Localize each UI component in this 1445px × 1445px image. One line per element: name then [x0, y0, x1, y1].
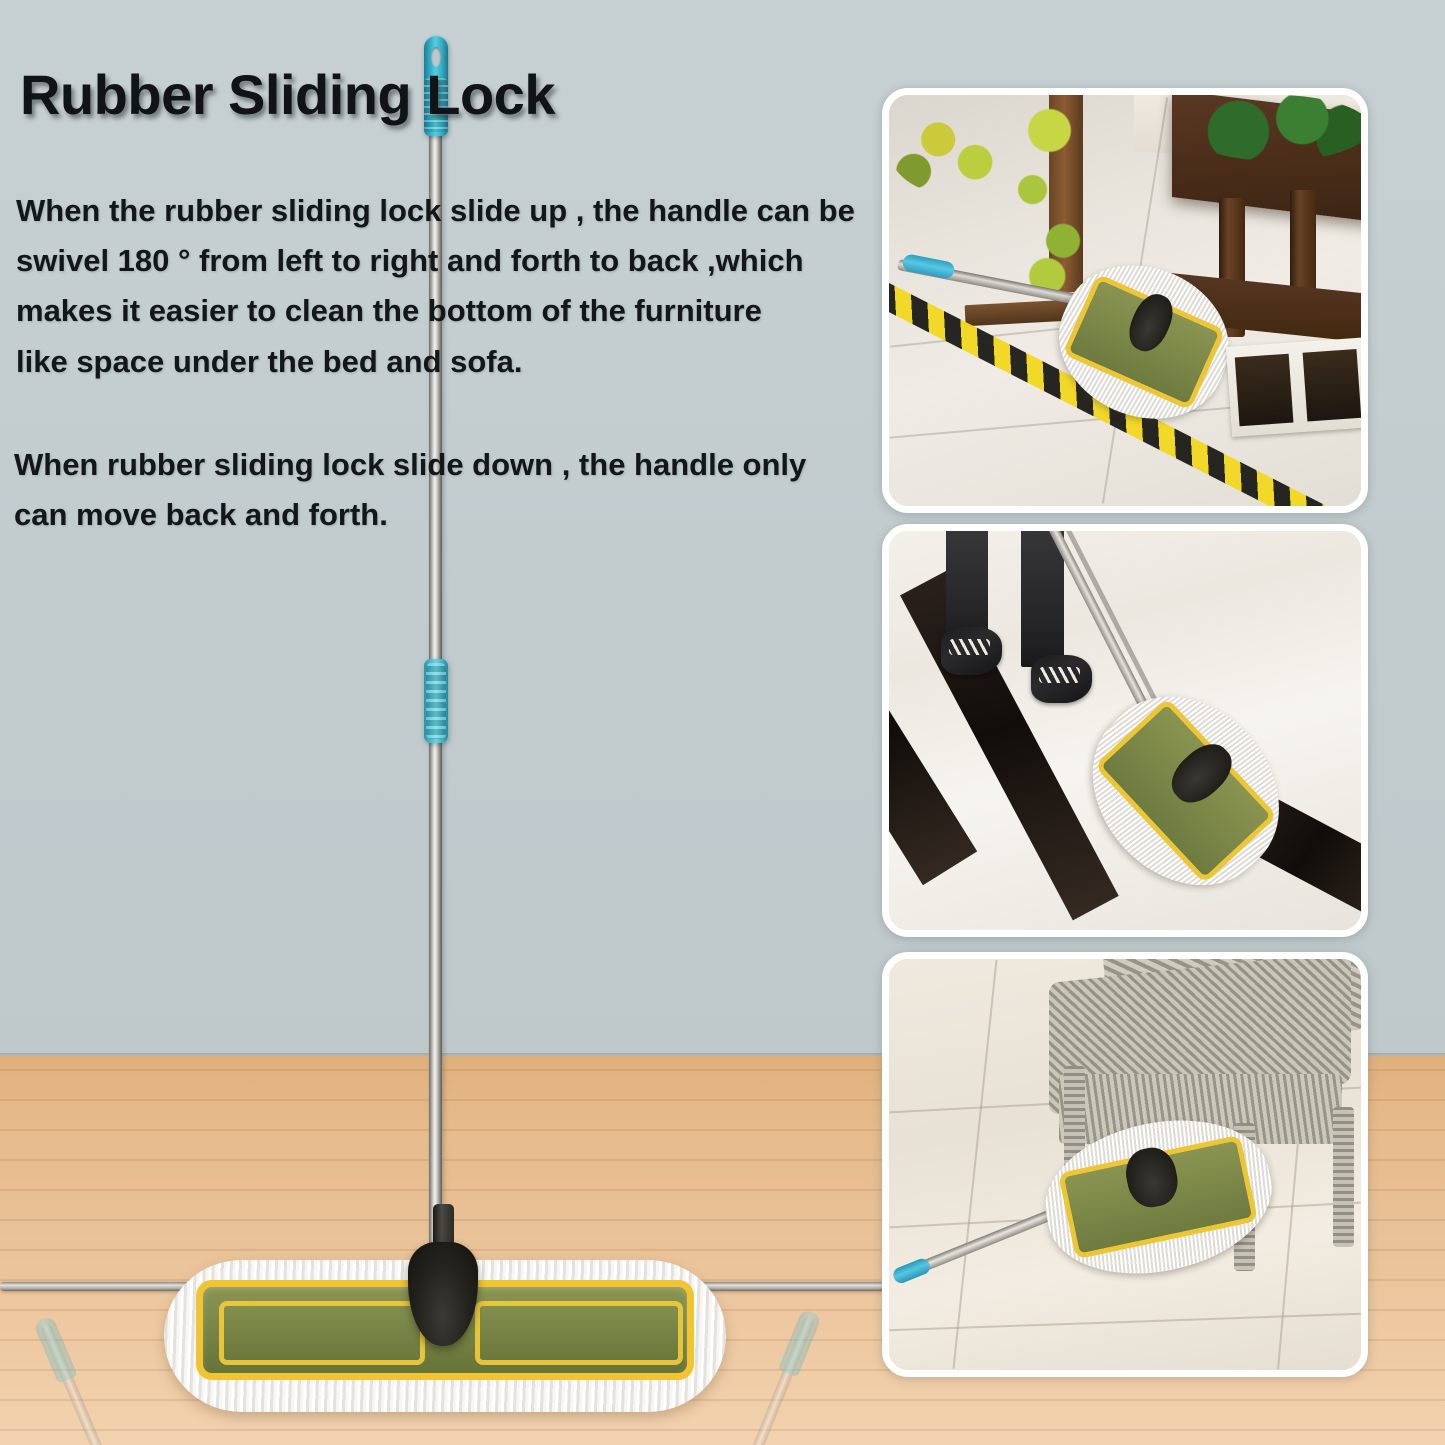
photo-1-content	[889, 95, 1361, 506]
pad-stitch-right	[475, 1301, 683, 1365]
photo-3-content	[889, 959, 1361, 1370]
chair-leg	[1333, 1107, 1354, 1247]
sneaker	[1031, 655, 1092, 703]
description-paragraph-2: When rubber sliding lock slide down , th…	[14, 440, 844, 540]
plant-foliage	[1182, 95, 1368, 161]
photo-2-content	[889, 531, 1361, 930]
rubber-sliding-lock[interactable]	[424, 659, 448, 743]
sneaker	[941, 627, 1002, 675]
photo-mop-under-rattan-chair	[882, 952, 1368, 1377]
description-paragraph-1: When the rubber sliding lock slide up , …	[16, 186, 866, 387]
framed-pictures	[1226, 337, 1368, 437]
mop-head	[150, 1238, 740, 1428]
pad-stitch-left	[219, 1301, 425, 1365]
photo-mop-on-marble-floor	[882, 524, 1368, 937]
page-title: Rubber Sliding Lock	[20, 62, 555, 127]
photo-mop-under-wooden-table	[882, 88, 1368, 513]
product-infographic: Rubber Sliding Lock When the rubber slid…	[0, 0, 1445, 1445]
